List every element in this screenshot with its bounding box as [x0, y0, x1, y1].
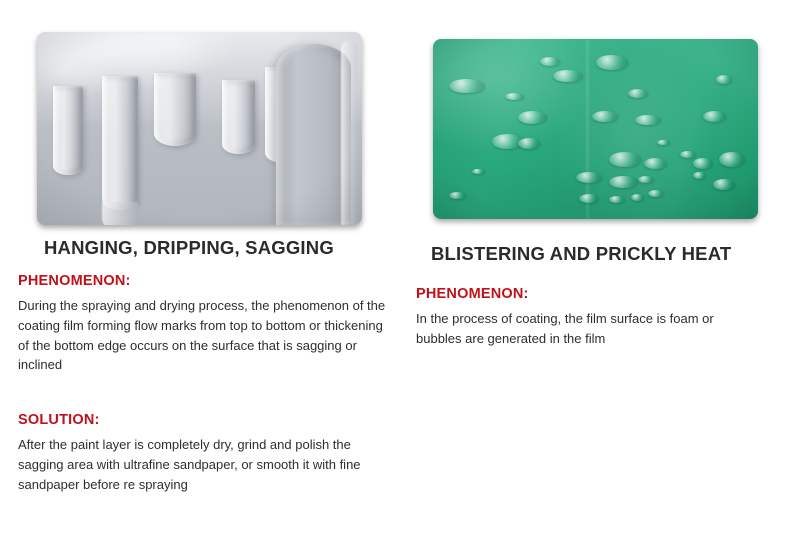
solution-label: SOLUTION:	[18, 412, 376, 428]
green-panel-blisters-photo	[433, 39, 758, 219]
sagging-photo-wrapper	[37, 32, 400, 225]
photo-vignette	[37, 32, 362, 225]
two-column-layout: HANGING, DRIPPING, SAGGING PHENOMENON: D…	[0, 0, 790, 540]
phenomenon-text: In the process of coating, the film surf…	[416, 309, 756, 349]
card-title-blistering: BLISTERING AND PRICKLY HEAT	[431, 243, 790, 265]
solution-text: After the paint layer is completely dry,…	[18, 435, 376, 494]
blistering-photo-wrapper	[433, 39, 790, 219]
solution-block-sagging: SOLUTION: After the paint layer is compl…	[18, 412, 376, 494]
phenomenon-text: During the spraying and drying process, …	[18, 296, 386, 375]
phenomenon-block-sagging: PHENOMENON: During the spraying and dryi…	[18, 273, 386, 375]
grey-paint-sagging-photo	[37, 32, 362, 225]
phenomenon-label: PHENOMENON:	[18, 273, 386, 289]
card-sagging: HANGING, DRIPPING, SAGGING PHENOMENON: D…	[0, 0, 400, 540]
phenomenon-block-blistering: PHENOMENON: In the process of coating, t…	[416, 286, 756, 349]
card-title-sagging: HANGING, DRIPPING, SAGGING	[44, 237, 400, 259]
phenomenon-label: PHENOMENON:	[416, 286, 756, 302]
photo-vignette	[433, 39, 758, 219]
defect-reference-sheet: HANGING, DRIPPING, SAGGING PHENOMENON: D…	[0, 0, 790, 540]
card-blistering: BLISTERING AND PRICKLY HEAT PHENOMENON: …	[400, 0, 790, 540]
